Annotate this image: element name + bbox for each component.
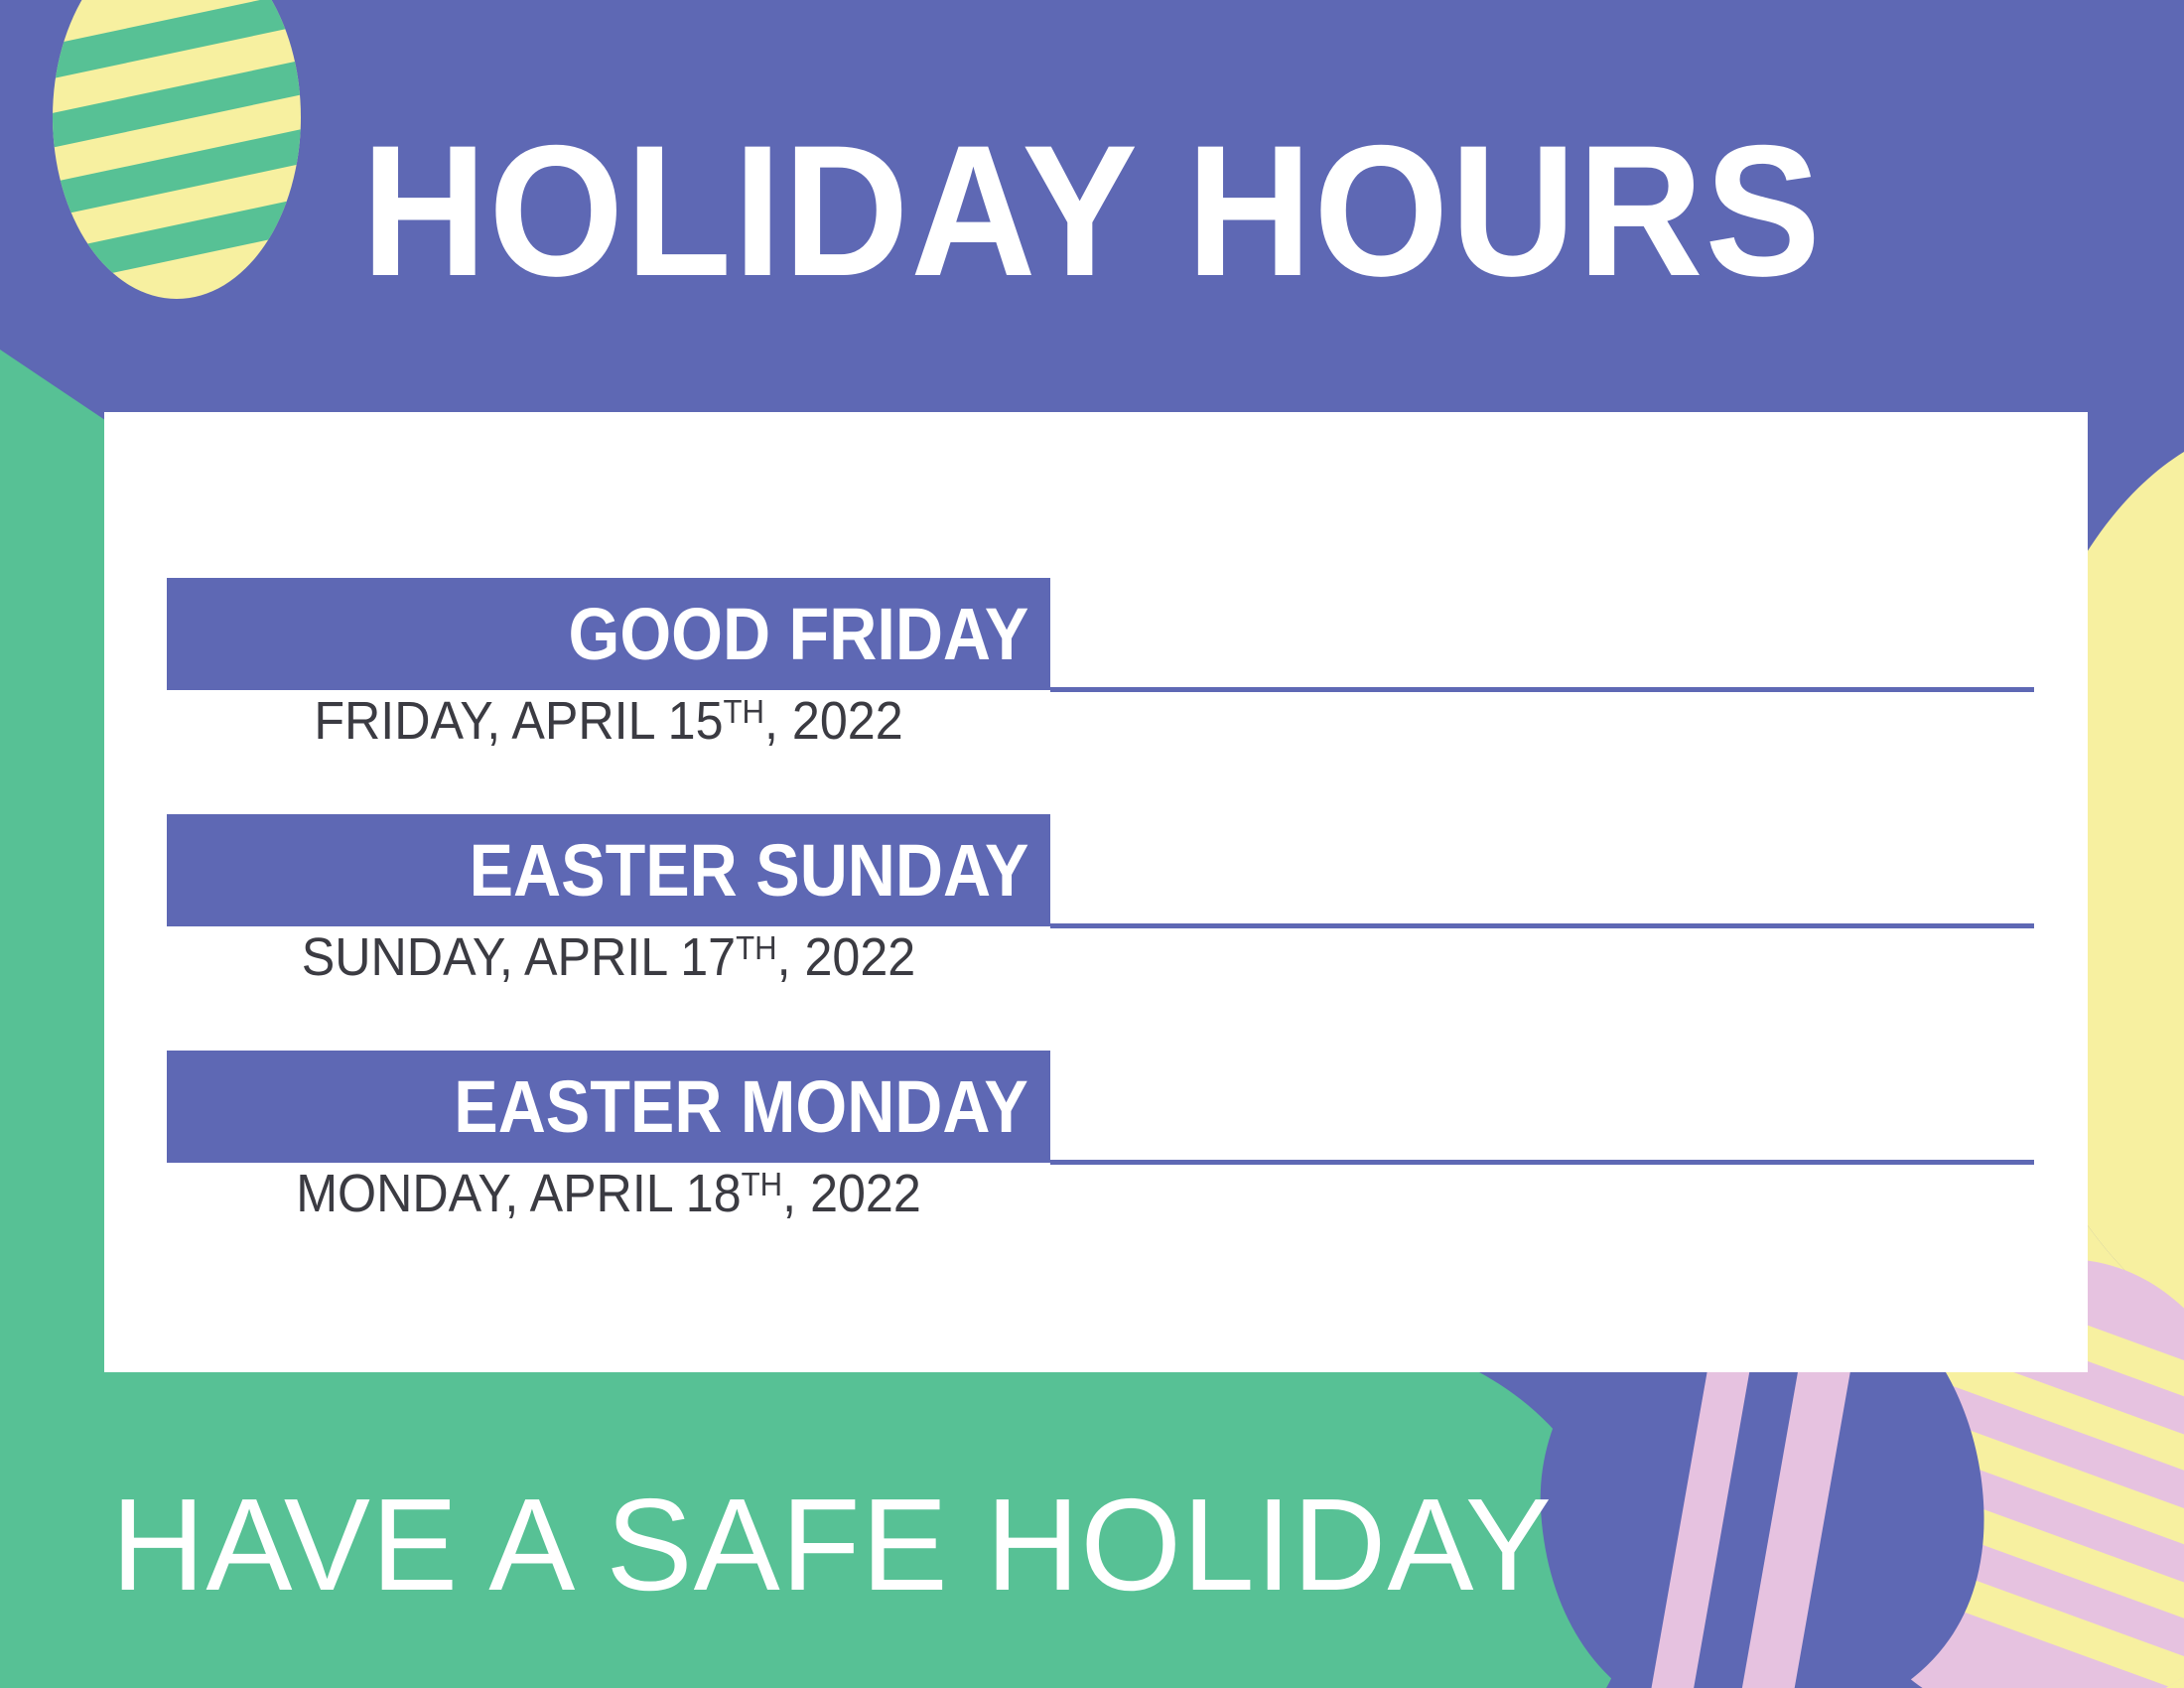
holiday-hours-poster: HOLIDAY HOURS GOOD FRIDAY FRIDAY, APRIL … <box>0 0 2184 1688</box>
holiday-name-label: EASTER MONDAY <box>454 1070 1028 1144</box>
holiday-date-suffix: , 2022 <box>777 927 916 987</box>
holiday-date-ordinal: TH <box>736 930 777 967</box>
holiday-date-ordinal: TH <box>742 1167 783 1203</box>
holiday-rows: GOOD FRIDAY FRIDAY, APRIL 15TH, 2022 EAS… <box>104 412 2088 1372</box>
holiday-date: MONDAY, APRIL 18TH, 2022 <box>198 1166 1020 1222</box>
holiday-date: SUNDAY, APRIL 17TH, 2022 <box>198 929 1020 986</box>
page-title: HOLIDAY HOURS <box>76 117 2108 304</box>
footer-message: HAVE A SAFE HOLIDAY <box>111 1479 1553 1611</box>
hours-write-in-line <box>1050 923 2034 928</box>
holiday-name-label: GOOD FRIDAY <box>568 598 1028 671</box>
holiday-name-bar: EASTER MONDAY <box>167 1051 1050 1163</box>
holiday-list-card: GOOD FRIDAY FRIDAY, APRIL 15TH, 2022 EAS… <box>104 412 2088 1372</box>
holiday-date-prefix: FRIDAY, APRIL 15 <box>314 691 723 751</box>
hours-write-in-line <box>1050 1160 2034 1165</box>
holiday-date-ordinal: TH <box>724 694 765 731</box>
holiday-date-prefix: SUNDAY, APRIL 17 <box>302 927 736 987</box>
holiday-name-label: EASTER SUNDAY <box>469 834 1028 908</box>
holiday-date-suffix: , 2022 <box>782 1164 921 1223</box>
hours-write-in-line <box>1050 687 2034 692</box>
holiday-date-suffix: , 2022 <box>764 691 903 751</box>
holiday-name-bar: GOOD FRIDAY <box>167 578 1050 690</box>
holiday-name-bar: EASTER SUNDAY <box>167 814 1050 926</box>
holiday-date-prefix: MONDAY, APRIL 18 <box>296 1164 741 1223</box>
holiday-date: FRIDAY, APRIL 15TH, 2022 <box>198 693 1020 750</box>
